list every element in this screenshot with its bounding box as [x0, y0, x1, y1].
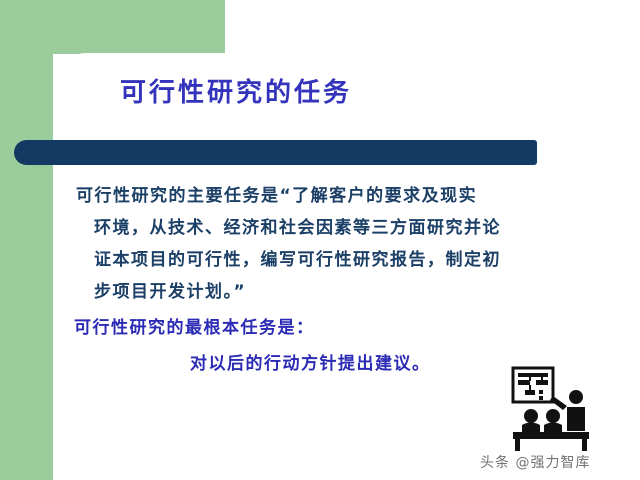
- navy-divider-bar: [14, 140, 537, 165]
- watermark-text: 头条 @强力智库: [480, 452, 630, 472]
- statement-lead-line: 可行性研究的最根本任务是：: [74, 310, 594, 346]
- presentation-slide: 可行性研究的任务 可行性研究的主要任务是“了解客户的要求及现实 环境，从技术、经…: [0, 0, 640, 480]
- meeting-presentation-clipart: [505, 366, 597, 454]
- body-line: 步项目开发计划。”: [76, 276, 576, 308]
- body-line: 证本项目的可行性，编写可行性研究报告，制定初: [76, 244, 576, 276]
- body-line: 可行性研究的主要任务是“了解客户的要求及现实: [76, 180, 576, 212]
- slide-title: 可行性研究的任务: [120, 76, 540, 110]
- body-line: 环境，从技术、经济和社会因素等三方面研究并论: [76, 212, 576, 244]
- green-top-accent-block: [0, 0, 225, 54]
- body-paragraph: 可行性研究的主要任务是“了解客户的要求及现实 环境，从技术、经济和社会因素等三方…: [76, 180, 576, 308]
- green-left-accent-bar: [0, 0, 53, 480]
